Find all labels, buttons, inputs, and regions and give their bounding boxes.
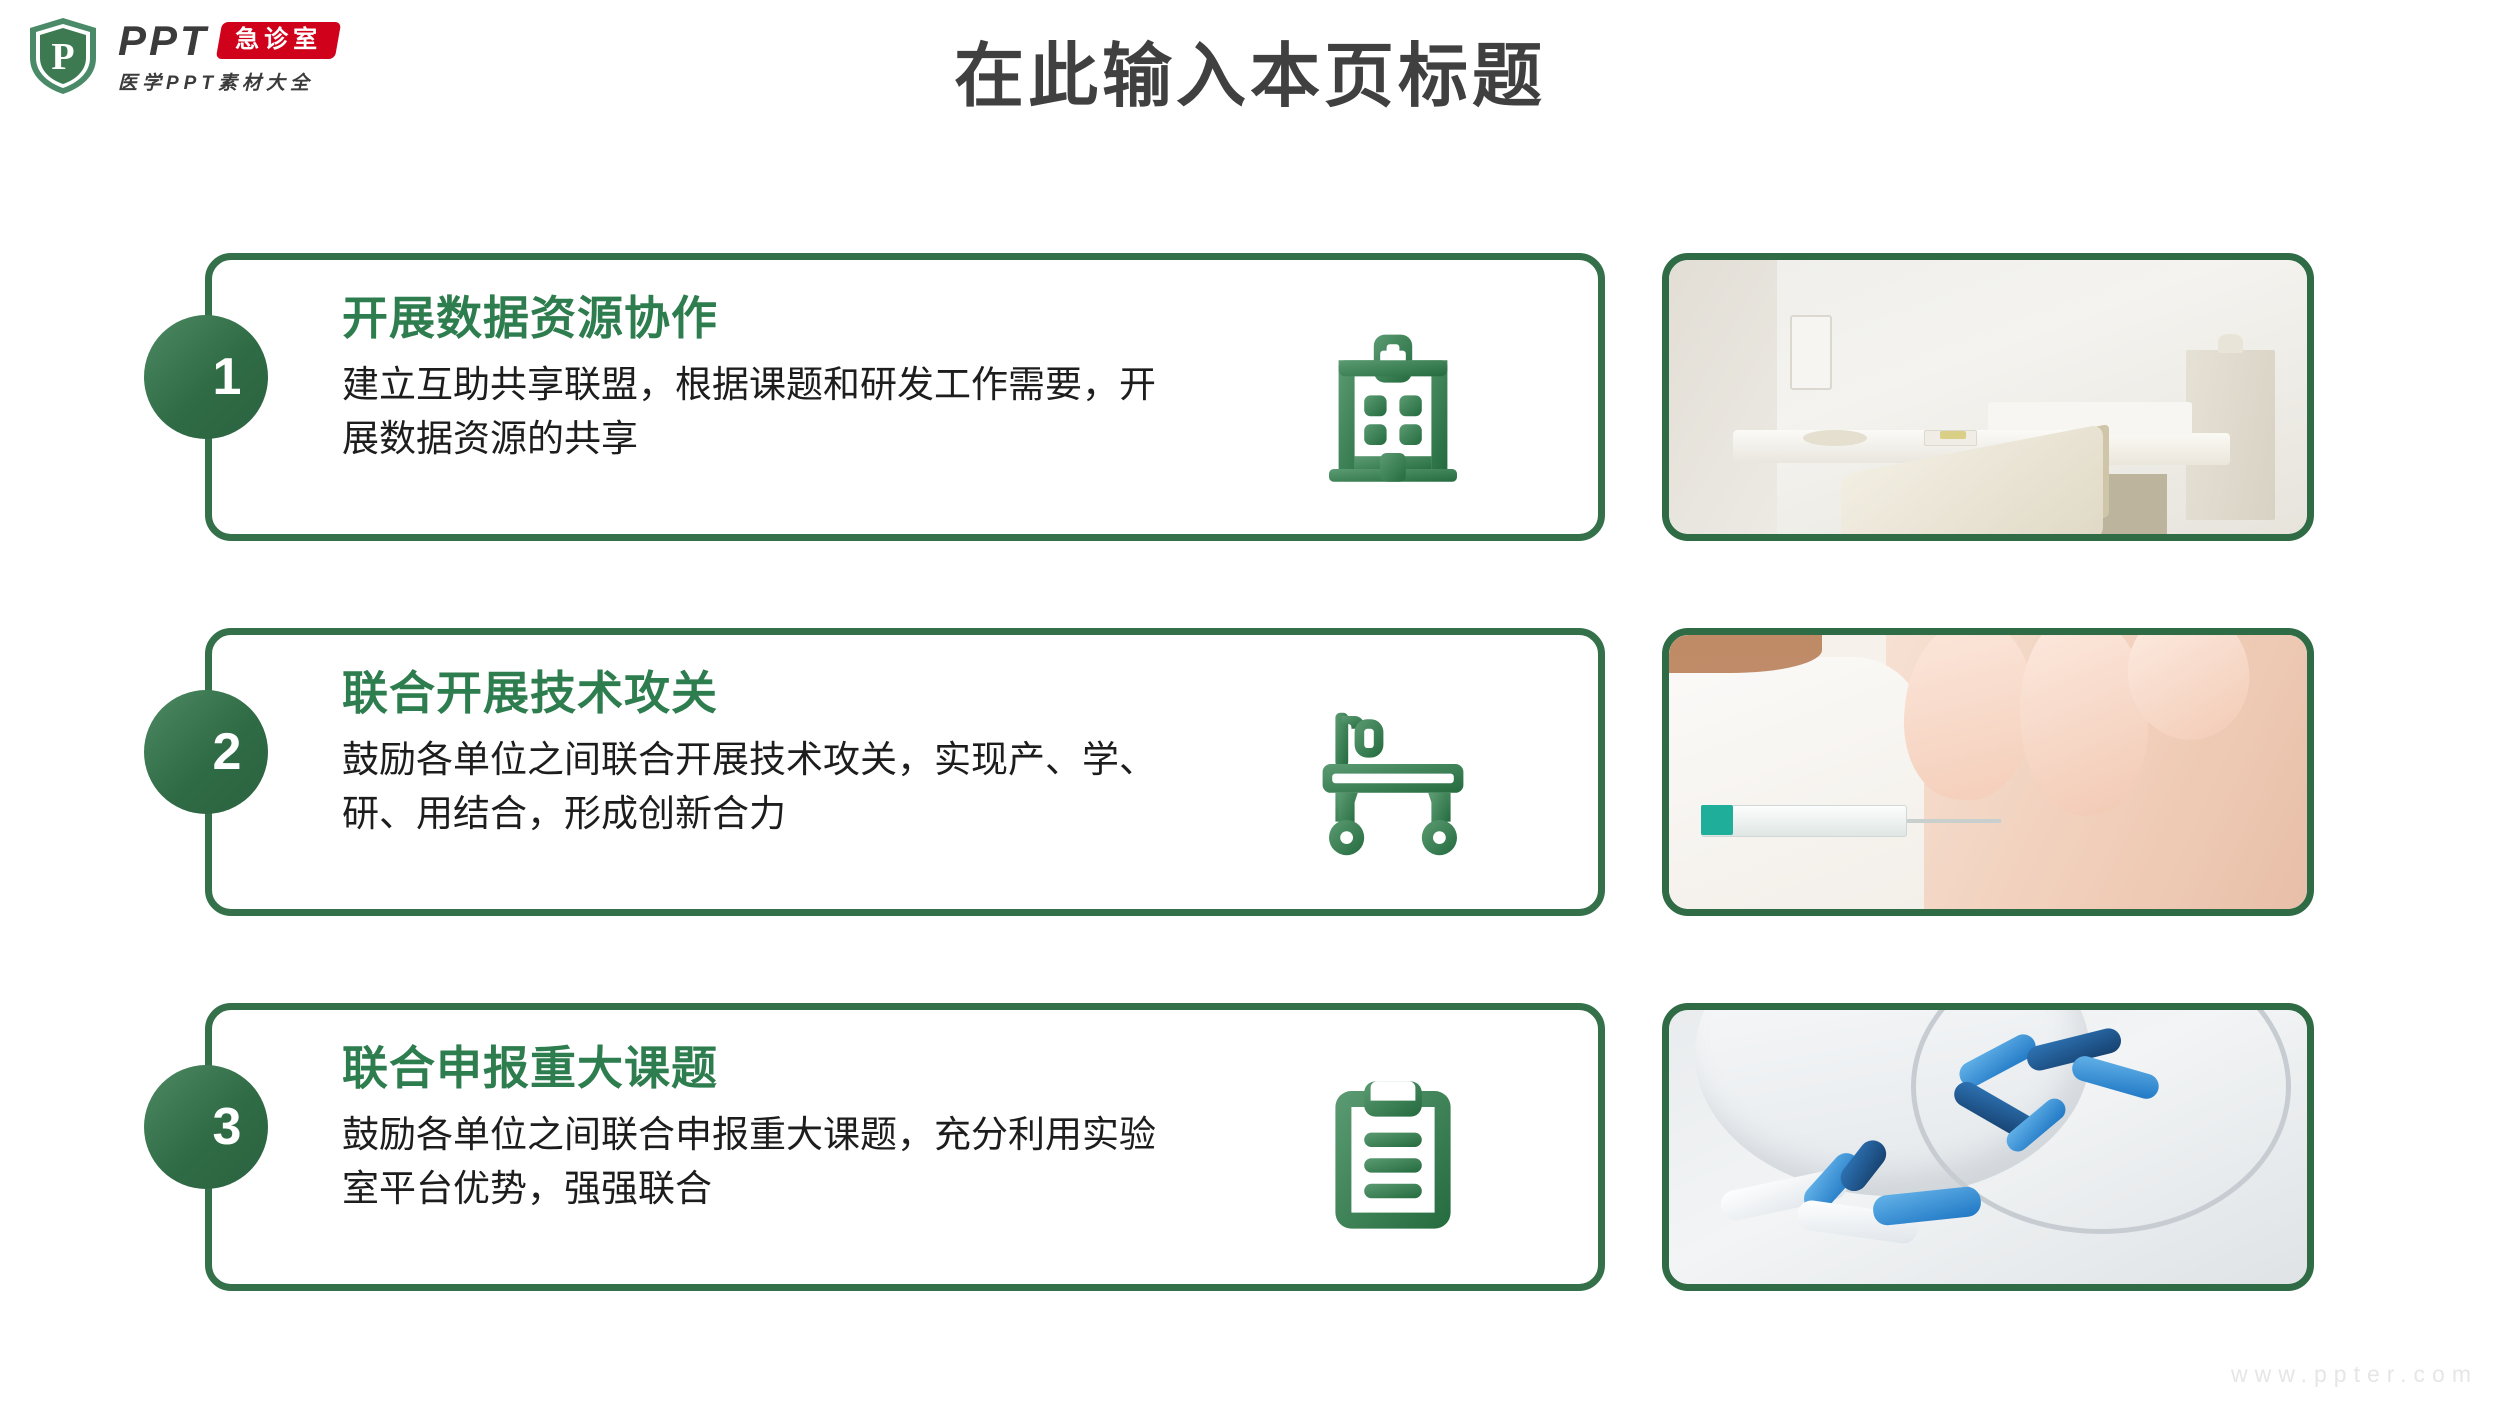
stretcher-icon: [1308, 695, 1478, 865]
card-title: 联合申报重大课题: [342, 1038, 1242, 1098]
card-description: 鼓励各单位之间联合申报重大课题，充分利用实验室平台优势，强强联合: [342, 1108, 1182, 1216]
card-body: 联合开展技术攻关 鼓励各单位之间联合开展技术攻关，实现产、学、研、用结合，形成创…: [342, 663, 1242, 841]
photo-card[interactable]: [1662, 628, 2314, 916]
clipboard-icon: [1308, 1070, 1478, 1240]
card-description: 建立互助共享联盟，根据课题和研发工作需要，开展数据资源的共享: [342, 358, 1182, 466]
card-description: 鼓励各单位之间联合开展技术攻关，实现产、学、研、用结合，形成创新合力: [342, 733, 1182, 841]
card-body: 开展数据资源协作 建立互助共享联盟，根据课题和研发工作需要，开展数据资源的共享: [342, 288, 1242, 466]
photo-card[interactable]: [1662, 1003, 2314, 1291]
hospital-icon: [1308, 320, 1478, 490]
step-number-badge: 2: [144, 690, 268, 814]
step-number-badge: 1: [144, 315, 268, 439]
step-number-badge: 3: [144, 1065, 268, 1189]
info-card[interactable]: 1 开展数据资源协作 建立互助共享联盟，根据课题和研发工作需要，开展数据资源的共…: [205, 253, 1605, 541]
info-card[interactable]: 3 联合申报重大课题 鼓励各单位之间联合申报重大课题，充分利用实验室平台优势，强…: [205, 1003, 1605, 1291]
card-body: 联合申报重大课题 鼓励各单位之间联合申报重大课题，充分利用实验室平台优势，强强联…: [342, 1038, 1242, 1216]
page-title: 在此输入本页标题: [0, 34, 2500, 118]
content-row: 1 开展数据资源协作 建立互助共享联盟，根据课题和研发工作需要，开展数据资源的共…: [0, 253, 2500, 553]
capsules-photo: [1669, 1010, 2307, 1284]
content-row: 3 联合申报重大课题 鼓励各单位之间联合申报重大课题，充分利用实验室平台优势，强…: [0, 1003, 2500, 1303]
info-card[interactable]: 2 联合开展技术攻关 鼓励各单位之间联合开展技术攻关，实现产、学、研、用结合，形…: [205, 628, 1605, 916]
card-title: 开展数据资源协作: [342, 288, 1242, 348]
slide-canvas: P PPT 急诊室 医学PPT素材大全 在此输入本页标题 1 开展数据资源协作 …: [0, 0, 2500, 1406]
photo-card[interactable]: [1662, 253, 2314, 541]
card-title: 联合开展技术攻关: [342, 663, 1242, 723]
exam-room-photo: [1669, 260, 2307, 534]
content-row: 2 联合开展技术攻关 鼓励各单位之间联合开展技术攻关，实现产、学、研、用结合，形…: [0, 628, 2500, 928]
injection-photo: [1669, 635, 2307, 909]
site-watermark: www.ppter.com: [2231, 1361, 2478, 1388]
